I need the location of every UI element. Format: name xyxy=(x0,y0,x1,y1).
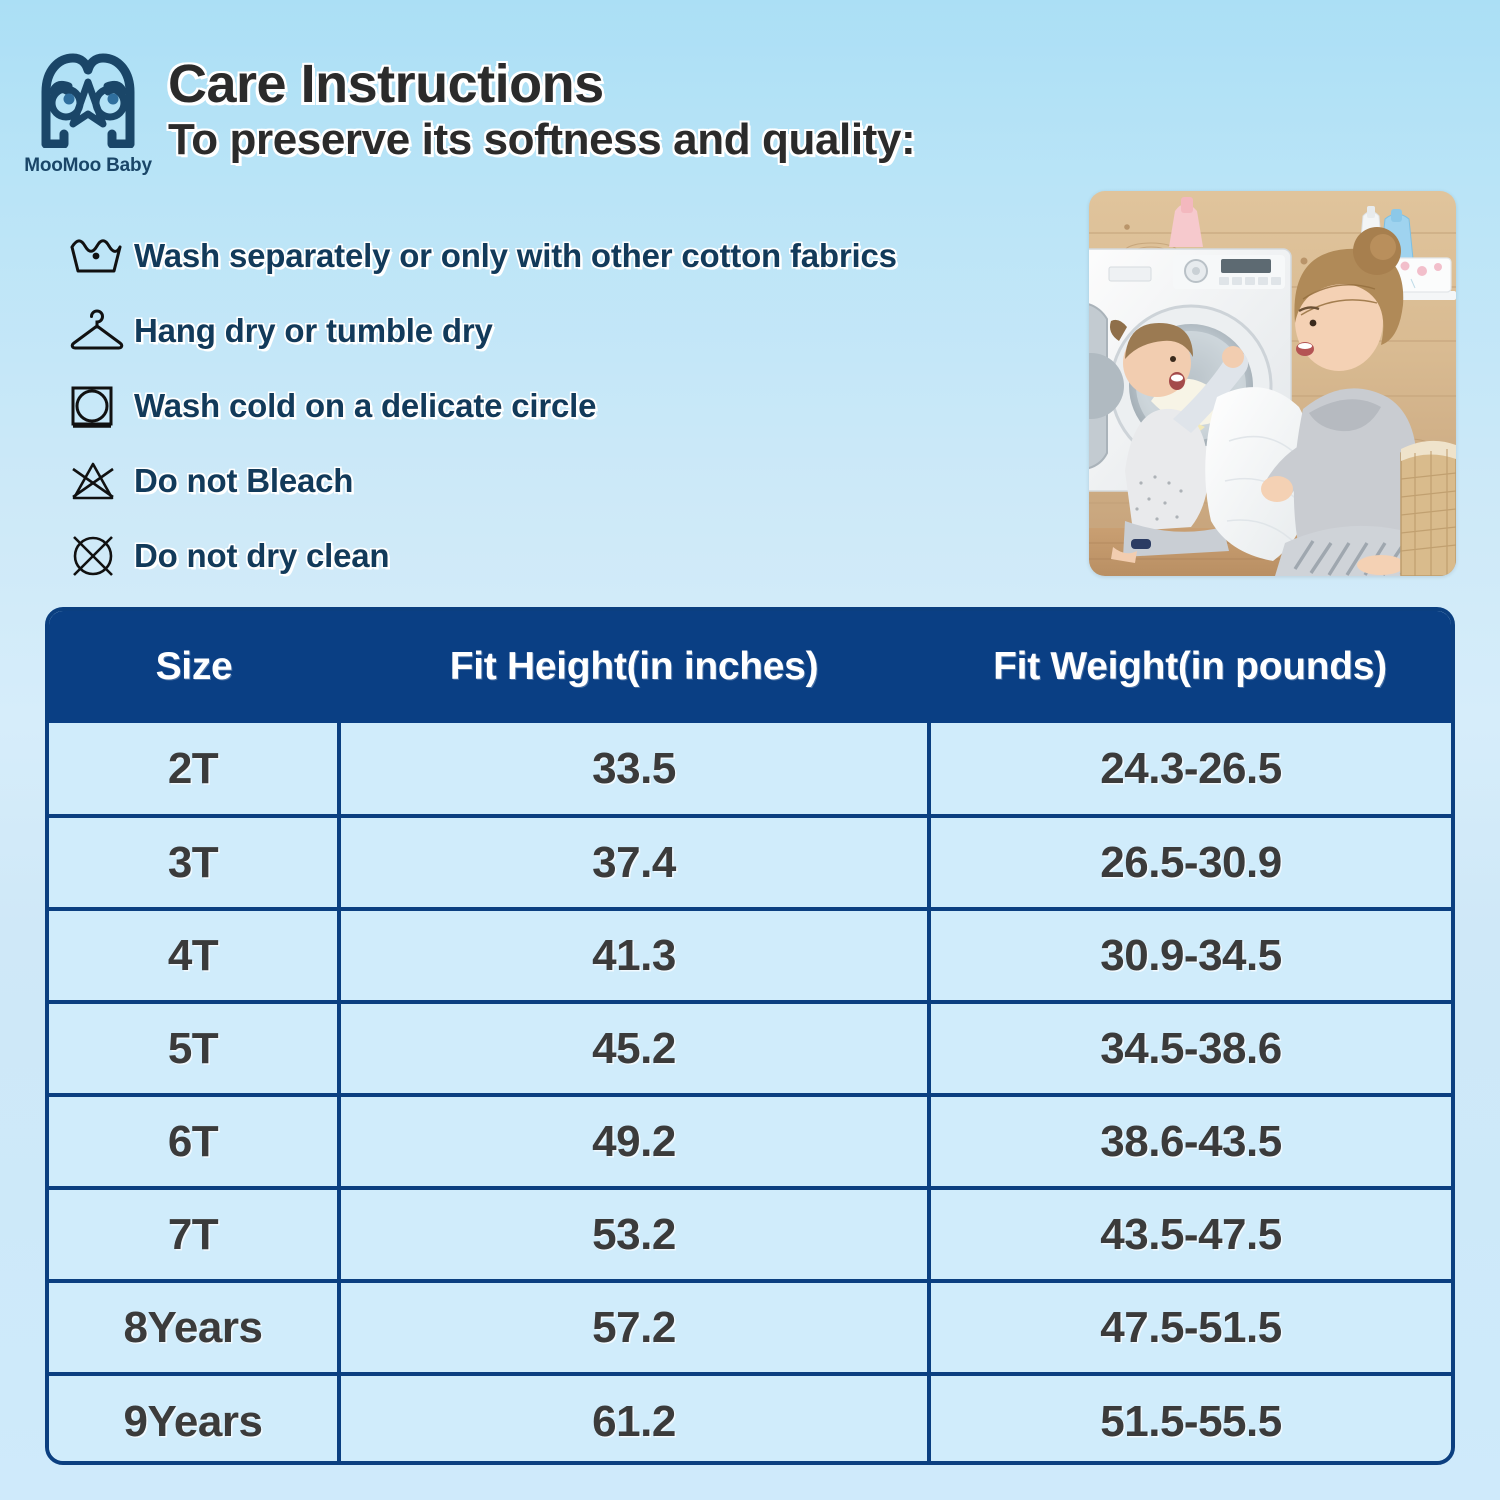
care-instruction-item: Do not dry clean xyxy=(60,518,1080,593)
page-title: Care Instructions xyxy=(168,56,915,113)
column-header-size: Size xyxy=(49,611,339,723)
care-instruction-item: Wash cold on a delicate circle xyxy=(60,368,1080,443)
page-subtitle: To preserve its softness and quality: xyxy=(168,117,915,163)
do-not-dry-clean-icon xyxy=(60,531,134,581)
cell-height: 45.2 xyxy=(339,1002,929,1095)
table-row: 3T 37.4 26.5-30.9 xyxy=(49,816,1451,909)
care-instruction-text: Wash cold on a delicate circle xyxy=(134,387,596,425)
cell-weight: 24.3-26.5 xyxy=(929,723,1451,816)
cell-height: 49.2 xyxy=(339,1095,929,1188)
care-instruction-text: Do not dry clean xyxy=(134,537,389,575)
table-header-row: Size Fit Height(in inches) Fit Weight(in… xyxy=(49,611,1451,723)
care-instruction-item: Do not Bleach xyxy=(60,443,1080,518)
cell-height: 37.4 xyxy=(339,816,929,909)
brand-logo: MooMoo Baby xyxy=(22,52,154,177)
cell-weight: 43.5-47.5 xyxy=(929,1188,1451,1281)
cell-size: 9Years xyxy=(49,1374,339,1465)
care-instruction-text: Hang dry or tumble dry xyxy=(134,312,493,350)
tumble-dry-icon xyxy=(60,382,134,430)
table-row: 8Years 57.2 47.5-51.5 xyxy=(49,1281,1451,1374)
care-instruction-list: Wash separately or only with other cotto… xyxy=(60,218,1080,593)
cell-size: 8Years xyxy=(49,1281,339,1374)
size-chart-table: Size Fit Height(in inches) Fit Weight(in… xyxy=(45,607,1455,1465)
cell-size: 3T xyxy=(49,816,339,909)
table-row: 6T 49.2 38.6-43.5 xyxy=(49,1095,1451,1188)
column-header-height: Fit Height(in inches) xyxy=(339,611,929,723)
cell-weight: 47.5-51.5 xyxy=(929,1281,1451,1374)
hanger-dry-icon xyxy=(60,309,134,353)
wash-tub-icon xyxy=(60,235,134,277)
cell-size: 6T xyxy=(49,1095,339,1188)
cell-height: 33.5 xyxy=(339,723,929,816)
cell-size: 5T xyxy=(49,1002,339,1095)
title-block: Care Instructions To preserve its softne… xyxy=(168,56,915,163)
laundry-photo xyxy=(1089,191,1456,576)
owl-logo-icon xyxy=(22,52,154,153)
cell-height: 57.2 xyxy=(339,1281,929,1374)
column-header-weight: Fit Weight(in pounds) xyxy=(929,611,1451,723)
page-header: MooMoo Baby Care Instructions To preserv… xyxy=(0,0,1500,190)
care-instruction-text: Wash separately or only with other cotto… xyxy=(134,237,897,275)
cell-weight: 38.6-43.5 xyxy=(929,1095,1451,1188)
do-not-bleach-icon xyxy=(60,458,134,504)
cell-weight: 51.5-55.5 xyxy=(929,1374,1451,1465)
table-row: 4T 41.3 30.9-34.5 xyxy=(49,909,1451,1002)
care-instruction-item: Hang dry or tumble dry xyxy=(60,293,1080,368)
table-row: 5T 45.2 34.5-38.6 xyxy=(49,1002,1451,1095)
care-instruction-item: Wash separately or only with other cotto… xyxy=(60,218,1080,293)
cell-height: 61.2 xyxy=(339,1374,929,1465)
table-row: 7T 53.2 43.5-47.5 xyxy=(49,1188,1451,1281)
cell-size: 4T xyxy=(49,909,339,1002)
brand-name: MooMoo Baby xyxy=(22,155,154,177)
cell-height: 53.2 xyxy=(339,1188,929,1281)
cell-size: 7T xyxy=(49,1188,339,1281)
cell-height: 41.3 xyxy=(339,909,929,1002)
care-instruction-text: Do not Bleach xyxy=(134,462,353,500)
table-row: 2T 33.5 24.3-26.5 xyxy=(49,723,1451,816)
cell-weight: 34.5-38.6 xyxy=(929,1002,1451,1095)
cell-weight: 26.5-30.9 xyxy=(929,816,1451,909)
cell-weight: 30.9-34.5 xyxy=(929,909,1451,1002)
cell-size: 2T xyxy=(49,723,339,816)
table-row: 9Years 61.2 51.5-55.5 xyxy=(49,1374,1451,1465)
